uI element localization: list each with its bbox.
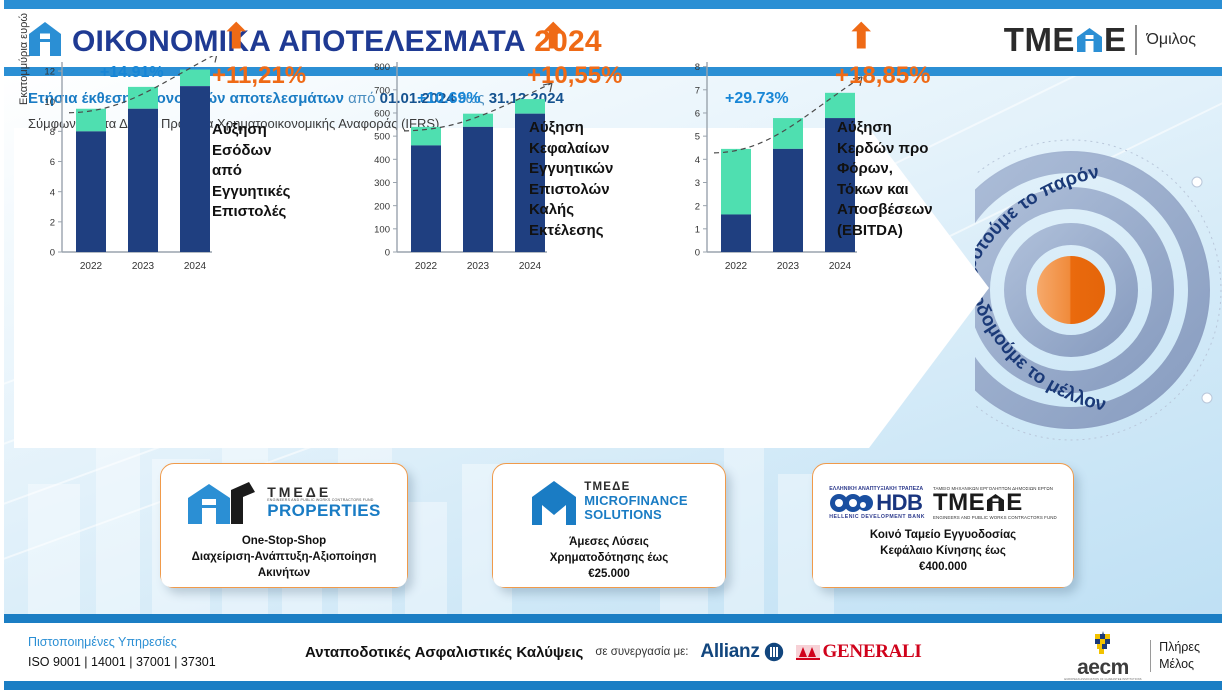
caption-line: Εγγυητικές <box>212 182 290 203</box>
card-hdb-inner: ΕΛΛΗΝΙΚΗ ΑΝΑΠΤΥΞΙΑΚΗ ΤΡΑΠΕΖΑ HDB HELLENI… <box>813 474 1073 587</box>
chart-capital-arrow-icon: ⬆ <box>539 20 568 54</box>
card-properties[interactable]: TMEΔE ENGINEERS AND PUBLIC WORKS CONTRAC… <box>160 463 408 588</box>
chart-revenue-growth-badge: +14.91% <box>100 64 164 82</box>
footer-bottom-bar <box>0 681 1226 690</box>
aecm-block: aecm EUROPEAN ASSOCIATION OF GUARANTEE I… <box>1064 631 1200 681</box>
svg-text:2022: 2022 <box>80 261 103 272</box>
chart-revenue: 024681012202220232024 Εκατομμύρια ευρώ +… <box>14 0 344 320</box>
chart-ebitda-caption: Αύξηση Κερδών προ Φόρων, Τόκων και Αποσβ… <box>837 118 933 241</box>
svg-text:100: 100 <box>374 224 390 235</box>
svg-text:2023: 2023 <box>467 261 490 272</box>
svg-text:8: 8 <box>695 62 700 73</box>
properties-wordmark: PROPERTIES <box>267 502 381 520</box>
generali-logo: GENERALI <box>796 641 922 663</box>
svg-text:2023: 2023 <box>777 261 800 272</box>
hdb-bottom-label: HELLENIC DEVELOPMENT BANK <box>829 514 925 520</box>
card-microfinance-inner: TMEΔE MICROFINANCE SOLUTIONS Άμεσες Λύσε… <box>493 474 725 587</box>
chart-ebitda-headline-pct: +18,85% <box>835 62 930 90</box>
footer-top-bar <box>0 614 1226 623</box>
microfinance-wordmark-2: SOLUTIONS <box>584 508 662 523</box>
microfinance-m-icon <box>530 479 578 527</box>
svg-text:2024: 2024 <box>519 261 542 272</box>
svg-text:2024: 2024 <box>184 261 207 272</box>
aecm-wordmark: aecm <box>1077 657 1129 678</box>
hdb-eyes-icon <box>829 493 873 513</box>
card-text-line: €25.000 <box>550 566 669 582</box>
properties-logo: TMEΔE ENGINEERS AND PUBLIC WORKS CONTRAC… <box>187 480 381 526</box>
svg-text:2024: 2024 <box>829 261 852 272</box>
chart-capital-growth-badge: +10.69% <box>417 90 481 108</box>
chart-capital-headline-pct: +10,55% <box>527 62 622 90</box>
svg-text:400: 400 <box>374 155 390 166</box>
tmede-wordmark-tail: E <box>1104 23 1127 56</box>
caption-line: Φόρων, <box>837 159 933 180</box>
infographic-page: ΟΙΚΟΝΟΜΙΚΑ ΑΠΟΤΕΛΕΣΜΑΤΑ 2024 TME E Όμιλο… <box>0 0 1226 694</box>
target-graphic: Χρηματοδοτούμε το παρόν Οικοδομούμε το μ… <box>975 130 1226 450</box>
caption-line: Αύξηση <box>529 118 613 139</box>
svg-text:8: 8 <box>50 127 55 138</box>
svg-text:500: 500 <box>374 132 390 143</box>
allianz-emblem-icon <box>764 642 784 662</box>
generali-wordmark: GENERALI <box>823 641 922 663</box>
insurance-title: Ανταποδοτικές Ασφαλιστικές Καλύψεις <box>305 644 583 661</box>
chart-revenue-caption: Αύξηση Εσόδων από Εγγυητικές Επιστολές <box>212 120 290 223</box>
svg-text:2: 2 <box>50 217 55 228</box>
certifications-title: Πιστοποιημένες Υπηρεσίες <box>28 632 216 652</box>
svg-text:800: 800 <box>374 62 390 73</box>
svg-text:600: 600 <box>374 109 390 120</box>
aecm-membership-line: Μέλος <box>1159 656 1200 673</box>
target-rings-svg: Χρηματοδοτούμε το παρόν Οικοδομούμε το μ… <box>975 130 1226 450</box>
svg-text:6: 6 <box>50 157 55 168</box>
chart-revenue-arrow-icon: ⬆ <box>222 20 251 54</box>
card-text-line: €400.000 <box>870 559 1016 575</box>
hdb-tmede-bottom-label: ENGINEERS AND PUBLIC WORKS CONTRACTORS F… <box>933 515 1057 520</box>
generali-lion-icon <box>796 644 820 661</box>
caption-line: Εκτέλεσης <box>529 221 613 242</box>
caption-line: (EBITDA) <box>837 221 933 242</box>
caption-line: Αύξηση <box>837 118 933 139</box>
chart-capital: 0100200300400500600700800202220232024 +1… <box>355 0 685 320</box>
caption-line: Κεφαλαίων <box>529 139 613 160</box>
svg-text:3: 3 <box>695 178 700 189</box>
svg-text:12: 12 <box>44 67 55 78</box>
card-properties-text: One-Stop-Shop Διαχείριση-Ανάπτυξη-Αξιοπο… <box>192 533 377 582</box>
chart-ebitda: 012345678202220232024 +29.73% ⬆ +18,85% … <box>675 0 1005 320</box>
tmede-house-glyph-icon <box>1076 27 1103 53</box>
properties-house-icon <box>187 480 261 526</box>
svg-text:200: 200 <box>374 201 390 212</box>
caption-line: από <box>212 161 290 182</box>
chart-ebitda-arrow-icon: ⬆ <box>847 20 876 54</box>
svg-text:2022: 2022 <box>725 261 748 272</box>
logo-divider <box>1135 25 1137 55</box>
hdb-tmede-house-glyph-icon <box>986 493 1005 512</box>
aecm-membership-line: Πλήρες <box>1159 639 1200 656</box>
svg-text:0: 0 <box>385 248 390 259</box>
aecm-emblem-icon <box>1087 631 1119 657</box>
hdb-logo-row: ΕΛΛΗΝΙΚΗ ΑΝΑΠΤΥΞΙΑΚΗ ΤΡΑΠΕΖΑ HDB HELLENI… <box>829 486 1057 520</box>
svg-text:10: 10 <box>44 97 55 108</box>
svg-text:2023: 2023 <box>132 261 155 272</box>
microfinance-wordmark-1: MICROFINANCE <box>584 494 688 509</box>
caption-line: Επιστολές <box>212 202 290 223</box>
footer: Πιστοποιημένες Υπηρεσίες ISO 9001 | 1400… <box>0 623 1226 681</box>
svg-text:2: 2 <box>695 201 700 212</box>
card-hdb[interactable]: ΕΛΛΗΝΙΚΗ ΑΝΑΠΤΥΞΙΑΚΗ ΤΡΑΠΕΖΑ HDB HELLENI… <box>812 463 1074 588</box>
caption-line: Τόκων και <box>837 180 933 201</box>
tmede-group-label: Όμιλος <box>1146 31 1196 49</box>
hdb-wordmark: HDB <box>876 492 922 514</box>
caption-line: Αύξηση <box>212 120 290 141</box>
svg-text:1: 1 <box>695 224 700 235</box>
tmede-wordmark-head: TME <box>1004 23 1075 56</box>
svg-text:7: 7 <box>695 85 700 96</box>
tmede-group-logo: TME E Όμιλος <box>1004 23 1196 56</box>
allianz-logo: Allianz <box>700 641 783 663</box>
insurance-partners-label: σε συνεργασία με: <box>595 646 688 658</box>
svg-text:300: 300 <box>374 178 390 189</box>
chart-capital-caption: Αύξηση Κεφαλαίων Εγγυητικών Επιστολών Κα… <box>529 118 613 241</box>
aecm-divider <box>1150 640 1152 672</box>
svg-text:4: 4 <box>50 187 55 198</box>
svg-text:0: 0 <box>50 248 55 259</box>
caption-line: Καλής <box>529 200 613 221</box>
svg-text:2022: 2022 <box>415 261 438 272</box>
allianz-wordmark: Allianz <box>700 641 759 663</box>
chart-ebitda-growth-badge: +29.73% <box>725 90 789 108</box>
svg-text:4: 4 <box>695 155 700 166</box>
chart-revenue-headline-pct: +11,21% <box>212 62 306 90</box>
microfinance-brand: TMEΔE <box>584 482 630 494</box>
card-properties-inner: TMEΔE ENGINEERS AND PUBLIC WORKS CONTRAC… <box>161 474 407 587</box>
chart-revenue-svg: 024681012202220232024 <box>26 56 234 306</box>
card-text-line: Ακινήτων <box>192 565 377 581</box>
svg-text:0: 0 <box>695 248 700 259</box>
properties-brand: TMEΔE <box>267 485 331 499</box>
tmede-wordmark: TME E <box>1004 23 1127 56</box>
card-microfinance[interactable]: TMEΔE MICROFINANCE SOLUTIONS Άμεσες Λύσε… <box>492 463 726 588</box>
card-text-line: One-Stop-Shop <box>192 533 377 549</box>
certifications-block: Πιστοποιημένες Υπηρεσίες ISO 9001 | 1400… <box>28 632 216 672</box>
chart-revenue-ylabel: Εκατομμύρια ευρώ <box>18 13 30 105</box>
card-text-line: Διαχείριση-Ανάπτυξη-Αξιοποίηση <box>192 549 377 565</box>
card-text-line: Άμεσες Λύσεις <box>550 534 669 550</box>
card-text-line: Κοινό Ταμείο Εγγυοδοσίας <box>870 527 1016 543</box>
hdb-tmede-wordmark: TME E <box>933 491 1023 515</box>
insurance-block: Ανταποδοτικές Ασφαλιστικές Καλύψεις σε σ… <box>305 641 922 663</box>
card-text-line: Χρηματοδότησης έως <box>550 550 669 566</box>
caption-line: Εσόδων <box>212 141 290 162</box>
microfinance-logo: TMEΔE MICROFINANCE SOLUTIONS <box>530 479 688 527</box>
caption-line: Εγγυητικών <box>529 159 613 180</box>
caption-line: Κερδών προ <box>837 139 933 160</box>
svg-text:5: 5 <box>695 132 700 143</box>
certifications-iso-list: ISO 9001 | 14001 | 37001 | 37301 <box>28 652 216 672</box>
svg-text:700: 700 <box>374 85 390 96</box>
svg-text:6: 6 <box>695 109 700 120</box>
card-text-line: Κεφάλαιο Κίνησης έως <box>870 543 1016 559</box>
caption-line: Επιστολών <box>529 180 613 201</box>
card-microfinance-text: Άμεσες Λύσεις Χρηματοδότησης έως €25.000 <box>550 534 669 583</box>
caption-line: Αποσβέσεων <box>837 200 933 221</box>
card-hdb-text: Κοινό Ταμείο Εγγυοδοσίας Κεφάλαιο Κίνηση… <box>870 527 1016 576</box>
aecm-membership-label: Πλήρες Μέλος <box>1159 639 1200 673</box>
